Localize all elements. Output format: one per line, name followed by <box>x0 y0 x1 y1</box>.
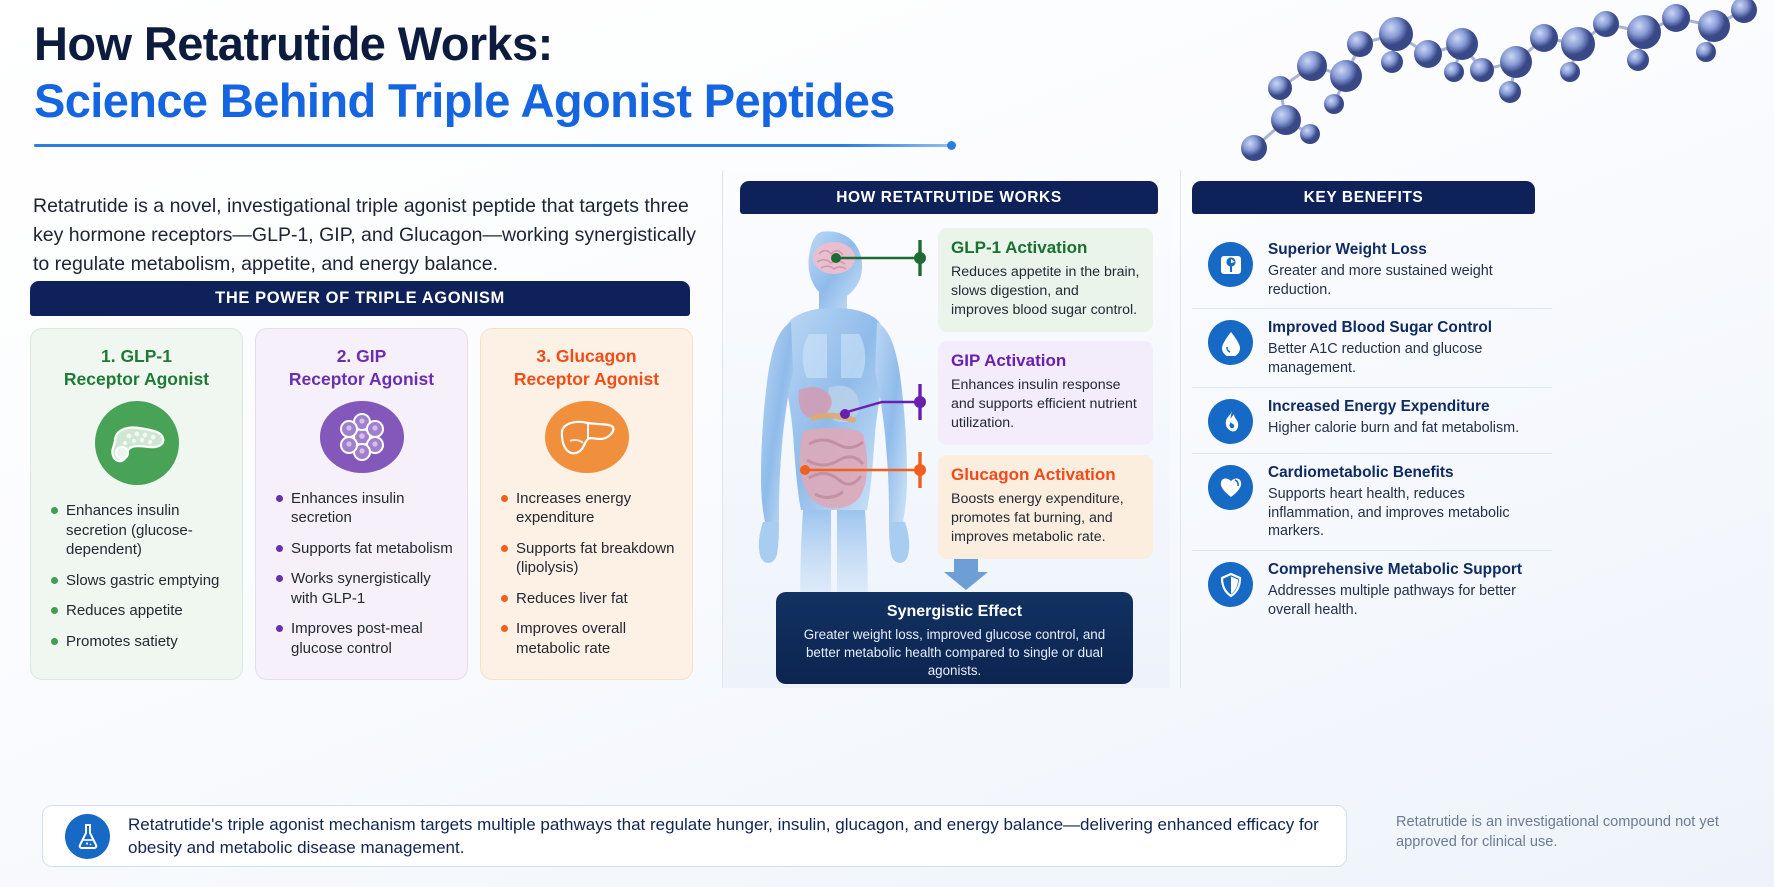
page-title-line2: Science Behind Triple Agonist Peptides <box>34 75 1234 128</box>
bullet-dot <box>276 625 283 632</box>
intro-paragraph: Retatrutide is a novel, investigational … <box>33 192 705 279</box>
benefit-body: Addresses multiple pathways for better o… <box>1268 582 1552 619</box>
bullet-dot <box>51 577 58 584</box>
benefit-body: Supports heart health, reduces inflammat… <box>1268 485 1552 541</box>
callout-gip: GIP Activation Enhances insulin response… <box>938 341 1153 445</box>
flame-icon <box>1208 399 1253 444</box>
footer-summary-text: Retatrutide's triple agonist mechanism t… <box>128 813 1324 860</box>
right-section-header: KEY BENEFITS <box>1192 181 1535 214</box>
card-glp1-title-line1: 1. GLP-1 <box>101 346 172 366</box>
bullet-dot <box>51 507 58 514</box>
bullet-dot <box>501 625 508 632</box>
list-item: Improves overall metabolic rate <box>501 619 678 658</box>
infographic-page: How Retatrutide Works: Science Behind Tr… <box>0 0 1774 887</box>
benefit-title: Superior Weight Loss <box>1268 241 1552 259</box>
left-section-header: THE POWER OF TRIPLE AGONISM <box>30 281 690 316</box>
bullet-text: Works synergistically with GLP-1 <box>291 569 453 608</box>
benefit-body: Higher calorie burn and fat metabolism. <box>1268 419 1519 438</box>
bullet-dot <box>51 638 58 645</box>
footer-summary-box: Retatrutide's triple agonist mechanism t… <box>42 805 1347 867</box>
benefit-text: Superior Weight Loss Greater and more su… <box>1268 240 1552 299</box>
card-glucagon-title: 3. Glucagon Receptor Agonist <box>514 345 659 391</box>
callout-glp1-title: GLP-1 Activation <box>951 238 1140 258</box>
bullet-dot <box>501 495 508 502</box>
list-item: Works synergistically with GLP-1 <box>276 569 453 608</box>
bullet-dot <box>276 495 283 502</box>
bullet-text: Slows gastric emptying <box>66 571 219 591</box>
benefit-text: Cardiometabolic Benefits Supports heart … <box>1268 463 1552 541</box>
benefit-comprehensive-metabolic-support: Comprehensive Metabolic Support Addresse… <box>1192 550 1552 628</box>
benefit-increased-energy-expenditure: Increased Energy Expenditure Higher calo… <box>1192 387 1552 453</box>
bullet-dot <box>51 607 58 614</box>
title-divider <box>34 144 952 147</box>
benefit-title: Improved Blood Sugar Control <box>1268 319 1552 337</box>
bullet-text: Reduces liver fat <box>516 589 628 609</box>
card-glucagon[interactable]: 3. Glucagon Receptor Agonist Increases e… <box>480 328 693 680</box>
benefit-text: Comprehensive Metabolic Support Addresse… <box>1268 560 1552 619</box>
bullet-dot <box>276 545 283 552</box>
scale-icon <box>1208 242 1253 287</box>
list-item: Increases energy expenditure <box>501 489 678 528</box>
card-glp1-title-line2: Receptor Agonist <box>64 369 209 389</box>
pancreas-icon <box>95 401 179 485</box>
card-glp1[interactable]: 1. GLP-1 Receptor Agonist Enhances insul… <box>30 328 243 680</box>
bullet-text: Increases energy expenditure <box>516 489 678 528</box>
bullet-text: Enhances insulin secretion <box>291 489 453 528</box>
benefit-improved-blood-sugar-control: Improved Blood Sugar Control Better A1C … <box>1192 308 1552 386</box>
bullet-text: Supports fat breakdown (lipolysis) <box>516 539 678 578</box>
bullet-dot <box>501 545 508 552</box>
synergistic-effect-box: Synergistic Effect Greater weight loss, … <box>776 592 1133 684</box>
card-glp1-bullets: Enhances insulin secretion (glucose-depe… <box>45 501 228 662</box>
bullet-dot <box>276 575 283 582</box>
card-gip-title: 2. GIP Receptor Agonist <box>289 345 434 391</box>
benefit-title: Comprehensive Metabolic Support <box>1268 561 1552 579</box>
bullet-dot <box>501 595 508 602</box>
flask-icon <box>65 814 110 859</box>
card-gip-title-line2: Receptor Agonist <box>289 369 434 389</box>
list-item: Enhances insulin secretion (glucose-depe… <box>51 501 228 560</box>
bullet-text: Reduces appetite <box>66 601 183 621</box>
bullet-text: Enhances insulin secretion (glucose-depe… <box>66 501 228 560</box>
header: How Retatrutide Works: Science Behind Tr… <box>34 18 1234 147</box>
list-item: Supports fat metabolism <box>276 539 453 559</box>
list-item: Reduces appetite <box>51 601 228 621</box>
bullet-text: Improves post-meal glucose control <box>291 619 453 658</box>
benefit-superior-weight-loss: Superior Weight Loss Greater and more su… <box>1192 231 1552 308</box>
benefit-text: Improved Blood Sugar Control Better A1C … <box>1268 318 1552 377</box>
list-item: Improves post-meal glucose control <box>276 619 453 658</box>
callout-glucagon: Glucagon Activation Boosts energy expend… <box>938 455 1153 559</box>
synergistic-effect-title: Synergistic Effect <box>792 603 1117 621</box>
card-glp1-title: 1. GLP-1 Receptor Agonist <box>64 345 209 391</box>
list-item: Supports fat breakdown (lipolysis) <box>501 539 678 578</box>
shield-icon <box>1208 562 1253 607</box>
callout-glp1-body: Reduces appetite in the brain, slows dig… <box>951 263 1140 320</box>
callout-gip-title: GIP Activation <box>951 351 1140 371</box>
center-section-header: HOW RETATRUTIDE WORKS <box>740 181 1158 214</box>
card-gip-title-line1: 2. GIP <box>337 346 387 366</box>
callout-glucagon-body: Boosts energy expenditure, promotes fat … <box>951 490 1140 547</box>
card-gip-bullets: Enhances insulin secretion Supports fat … <box>270 489 453 670</box>
callout-glucagon-title: Glucagon Activation <box>951 465 1140 485</box>
benefit-title: Cardiometabolic Benefits <box>1268 464 1552 482</box>
list-item: Enhances insulin secretion <box>276 489 453 528</box>
page-title-line1: How Retatrutide Works: <box>34 18 1234 71</box>
molecule-illustration <box>1214 0 1774 175</box>
card-glucagon-title-line1: 3. Glucagon <box>536 346 636 366</box>
bullet-text: Improves overall metabolic rate <box>516 619 678 658</box>
benefit-body: Greater and more sustained weight reduct… <box>1268 262 1552 299</box>
benefit-title: Increased Energy Expenditure <box>1268 398 1519 416</box>
triple-agonism-cards: 1. GLP-1 Receptor Agonist Enhances insul… <box>30 328 693 680</box>
key-benefits-list: Superior Weight Loss Greater and more su… <box>1192 231 1552 628</box>
card-glucagon-title-line2: Receptor Agonist <box>514 369 659 389</box>
bullet-text: Promotes satiety <box>66 632 178 652</box>
card-gip[interactable]: 2. GIP Receptor Agonist <box>255 328 468 680</box>
callout-glp1: GLP-1 Activation Reduces appetite in the… <box>938 228 1153 332</box>
footer-disclaimer: Retatrutide is an investigational compou… <box>1396 813 1746 852</box>
heart-icon <box>1208 465 1253 510</box>
cells-icon <box>320 401 404 472</box>
benefit-text: Increased Energy Expenditure Higher calo… <box>1268 397 1519 438</box>
benefit-cardiometabolic: Cardiometabolic Benefits Supports heart … <box>1192 453 1552 550</box>
callout-gip-body: Enhances insulin response and supports e… <box>951 376 1140 433</box>
list-item: Promotes satiety <box>51 632 228 652</box>
list-item: Slows gastric emptying <box>51 571 228 591</box>
droplet-icon <box>1208 320 1253 365</box>
bullet-text: Supports fat metabolism <box>291 539 453 559</box>
synergistic-effect-body: Greater weight loss, improved glucose co… <box>792 626 1117 680</box>
card-glucagon-bullets: Increases energy expenditure Supports fa… <box>495 489 678 670</box>
liver-icon <box>545 401 629 472</box>
list-item: Reduces liver fat <box>501 589 678 609</box>
benefit-body: Better A1C reduction and glucose managem… <box>1268 340 1552 377</box>
